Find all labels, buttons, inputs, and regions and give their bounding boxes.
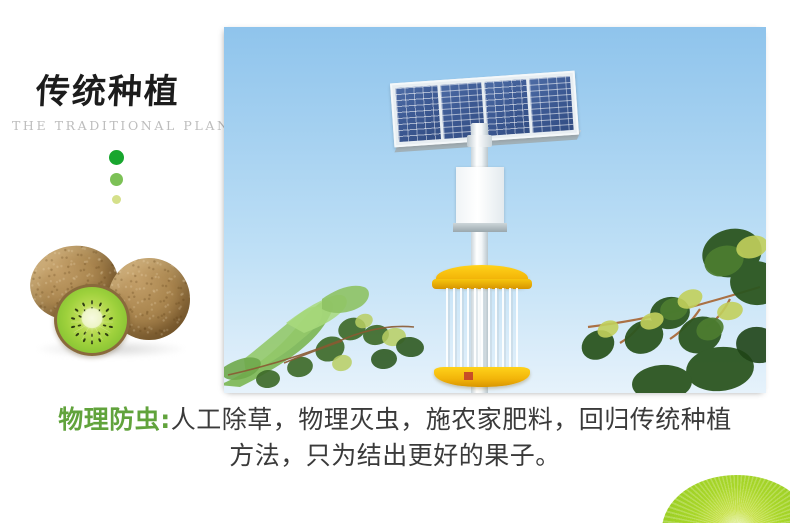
control-box bbox=[456, 167, 504, 223]
insect-trap-warning-label bbox=[464, 372, 473, 380]
decorative-dot-group bbox=[101, 150, 131, 212]
product-detail-banner: 传统种植 THE TRADITIONAL PLANTING bbox=[0, 0, 790, 523]
kiwi-core bbox=[82, 308, 103, 328]
solar-cell-column bbox=[484, 79, 529, 136]
left-heading-panel: 传统种植 THE TRADITIONAL PLANTING bbox=[0, 0, 224, 400]
solar-cell-column bbox=[529, 76, 574, 133]
kiwi-flesh bbox=[57, 287, 127, 353]
pole-collar bbox=[467, 135, 492, 147]
insect-trap-light-tubes bbox=[446, 288, 518, 372]
kiwi-slice-arc-decoration bbox=[662, 475, 790, 523]
solar-cell-column bbox=[395, 85, 440, 142]
orchard-photo bbox=[224, 27, 766, 393]
caption-line-2: 方法，只为结出更好的果子。 bbox=[0, 438, 790, 474]
foliage-right bbox=[524, 217, 766, 393]
control-box-base bbox=[453, 223, 507, 232]
foliage-left bbox=[224, 263, 434, 393]
dot-small-icon bbox=[112, 195, 121, 204]
dot-medium-icon bbox=[110, 173, 123, 186]
kiwi-fruit-illustration bbox=[24, 232, 196, 372]
insect-trap-bottom-tray bbox=[434, 367, 530, 387]
page-title-chinese: 传统种植 bbox=[35, 72, 181, 112]
caption-line-1: 物理防虫:人工除草，物理灭虫，施农家肥料，回归传统种植 bbox=[0, 402, 790, 438]
caption-line-1-rest: 人工除草，物理灭虫，施农家肥料，回归传统种植 bbox=[171, 405, 732, 434]
dot-large-icon bbox=[109, 150, 124, 165]
caption-highlight: 物理防虫: bbox=[58, 405, 171, 434]
kiwi-half-icon bbox=[54, 284, 130, 356]
caption-block: 物理防虫:人工除草，物理灭虫，施农家肥料，回归传统种植 方法，只为结出更好的果子… bbox=[0, 402, 790, 474]
